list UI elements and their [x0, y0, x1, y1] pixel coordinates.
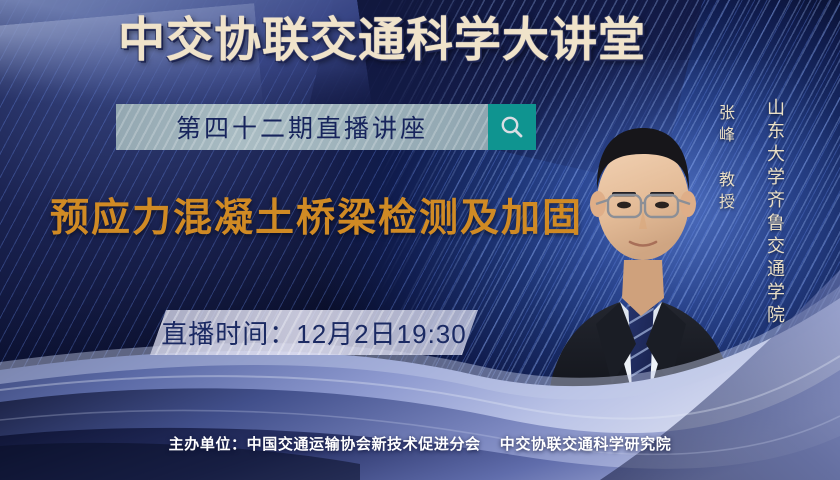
- series-label-plate: 第四十二期直播讲座: [116, 104, 488, 150]
- lecture-topic: 预应力混凝土桥梁检测及加固: [50, 187, 583, 243]
- speaker-name-title: 张峰 教授: [712, 104, 736, 215]
- broadcast-time-text: 直播时间：12月2日19:30: [161, 314, 466, 351]
- series-banner: 第四十二期直播讲座: [116, 104, 536, 150]
- speaker-organization: 山东大学齐鲁交通学院: [762, 98, 788, 328]
- organizer-text: 主办单位：中国交通运输协会新技术促进分会 中交协联交通科学研究院: [169, 433, 672, 454]
- search-button[interactable]: [488, 104, 536, 150]
- search-icon: [499, 114, 525, 140]
- page-title: 中交协联交通科学大讲堂: [118, 14, 646, 66]
- broadcast-time-badge: 直播时间：12月2日19:30: [150, 310, 478, 355]
- footer-bar: 主办单位：中国交通运输协会新技术促进分会 中交协联交通科学研究院: [0, 433, 840, 454]
- promo-poster: 中交协联交通科学大讲堂 第四十二期直播讲座 预应力混凝土桥梁检测及加固 直播时间…: [0, 0, 840, 480]
- series-label: 第四十二期直播讲座: [176, 109, 428, 145]
